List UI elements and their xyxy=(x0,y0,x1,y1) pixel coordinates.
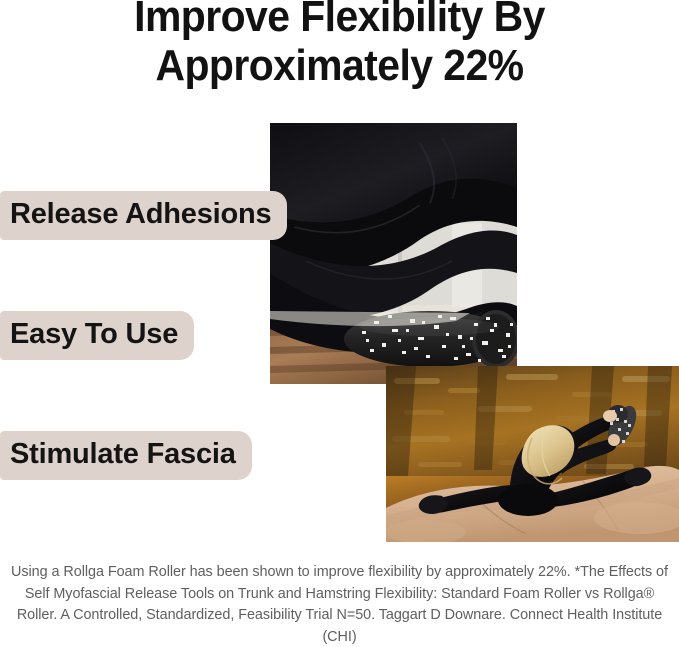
feature-pill-stimulate-fascia[interactable]: Stimulate Fascia xyxy=(0,431,252,480)
feature-pill-easy-to-use[interactable]: Easy To Use xyxy=(0,311,194,360)
page-title: Improve Flexibility By Approximately 22% xyxy=(24,0,655,91)
foam-roller-hamstring-illustration xyxy=(270,123,517,384)
headline-line-2: Approximately 22% xyxy=(24,41,655,90)
feature-pill-label: Easy To Use xyxy=(10,318,178,351)
infographic-canvas: Improve Flexibility By Approximately 22% xyxy=(0,0,679,647)
middle-split-stretch-photo xyxy=(386,366,679,542)
feature-pill-label: Release Adhesions xyxy=(10,198,271,231)
foam-roller-hamstring-photo xyxy=(270,123,517,384)
citation-caption: Using a Rollga Foam Roller has been show… xyxy=(6,562,673,647)
middle-split-stretch-illustration xyxy=(386,366,679,542)
feature-pill-release-adhesions[interactable]: Release Adhesions xyxy=(0,191,287,240)
headline-line-1: Improve Flexibility By xyxy=(24,0,655,41)
feature-pill-label: Stimulate Fascia xyxy=(10,438,236,471)
